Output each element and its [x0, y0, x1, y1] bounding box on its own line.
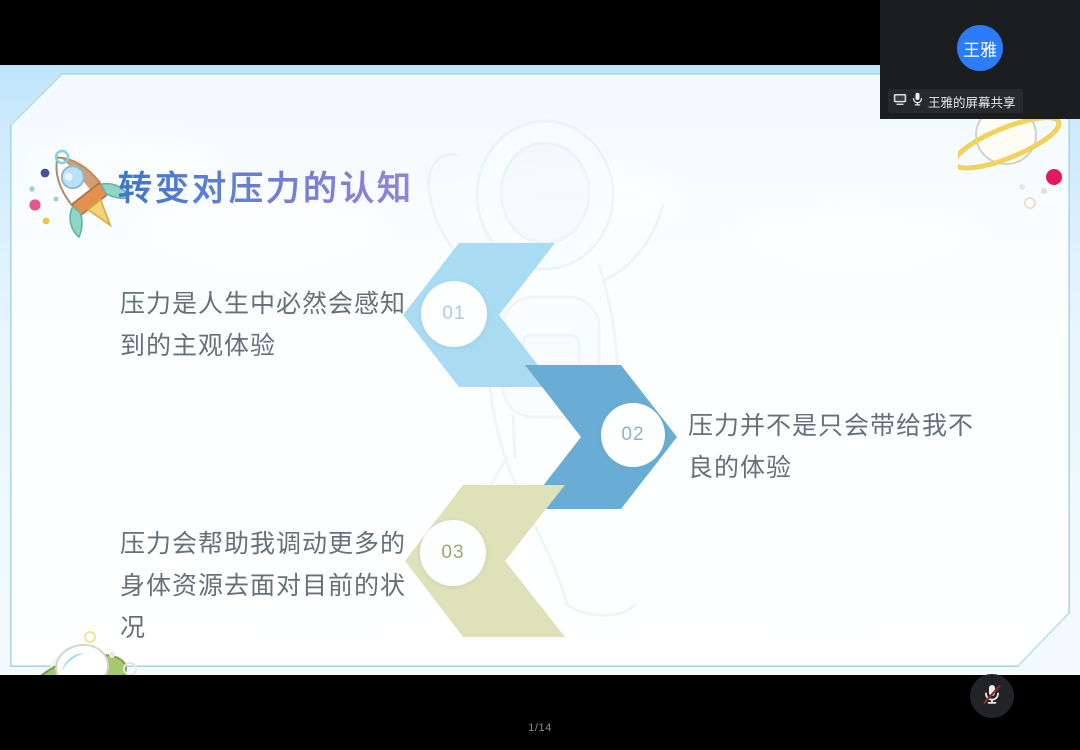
mute-button[interactable] [970, 674, 1014, 718]
cloud-3 [740, 205, 970, 269]
slide-title: 转变对压力的认知 [118, 161, 414, 210]
avatar: 王雅 [957, 25, 1003, 71]
screen-share-label: 王雅的屏幕共享 [888, 89, 1023, 113]
microphone-icon [912, 92, 923, 111]
screen-share-window: 转变对压力的认知 01 02 03 压力是人生中必然会感知到的主观体验 压力并不… [0, 0, 1080, 750]
step-text-2: 压力并不是只会带给我不良的体验 [688, 405, 988, 489]
step-number-3: 03 [420, 520, 486, 586]
step-text-1: 压力是人生中必然会感知到的主观体验 [120, 283, 420, 367]
participant-video-tile[interactable]: 王雅 王雅的屏幕共享 [880, 0, 1080, 119]
rocket-illustration [26, 143, 126, 239]
monitor-icon [893, 92, 907, 110]
planet-illustration [958, 101, 1078, 231]
step-number-2: 02 [601, 403, 665, 467]
page-indicator: 1/14 [0, 722, 1080, 734]
microphone-muted-icon [979, 681, 1005, 712]
step-text-3: 压力会帮助我调动更多的身体资源去面对目前的状况 [120, 523, 420, 649]
screen-share-label-text: 王雅的屏幕共享 [928, 92, 1016, 111]
shared-slide: 转变对压力的认知 01 02 03 压力是人生中必然会感知到的主观体验 压力并不… [0, 65, 1080, 675]
step-number-1: 01 [421, 281, 487, 347]
